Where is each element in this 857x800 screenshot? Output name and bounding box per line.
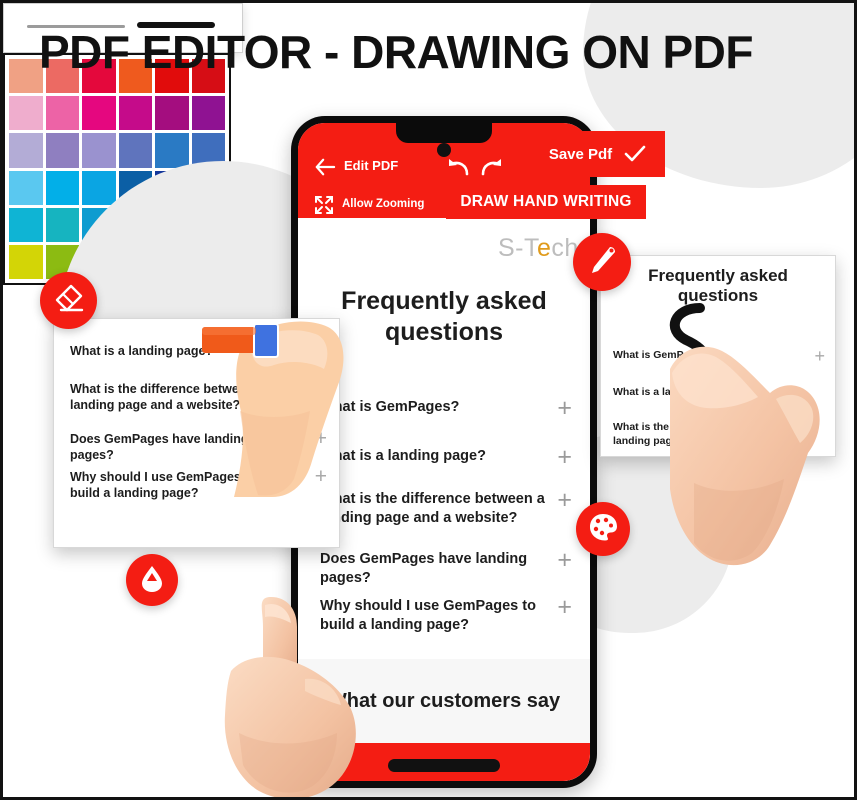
faq-question: Why should I use GemPages to build a lan… xyxy=(70,469,285,502)
thin-stroke-option[interactable] xyxy=(27,25,125,28)
faq-heading: Frequently asked questions xyxy=(298,286,590,347)
list-item[interactable]: What is GemPages? + xyxy=(613,349,825,363)
faq-expand-icon[interactable]: + xyxy=(315,381,327,398)
promo-screenshot: PDF EDITOR - DRAWING ON PDF Edit PDF xyxy=(0,0,857,800)
watermark-accent-letter: e xyxy=(537,234,551,262)
faq-question: Why should I use GemPages to build a lan… xyxy=(320,597,547,634)
list-item[interactable]: What is a landing page? + xyxy=(70,343,327,360)
front-camera xyxy=(437,143,451,157)
thick-stroke-option[interactable] xyxy=(137,22,215,28)
faq-question: What is GemPages? xyxy=(613,349,714,363)
color-swatch[interactable] xyxy=(119,133,153,167)
eraser-icon xyxy=(52,281,86,320)
watermark-prefix: S-T xyxy=(498,234,537,262)
back-arrow-icon[interactable] xyxy=(314,157,336,177)
faq-question: What is the difference between a landing… xyxy=(70,381,285,414)
color-swatch[interactable] xyxy=(46,208,80,242)
faq-question: Does GemPages have landing pages? xyxy=(70,431,285,464)
faq-expand-icon[interactable]: + xyxy=(557,447,572,467)
color-swatch[interactable] xyxy=(9,245,43,279)
faq-item[interactable]: What is a landing page? + xyxy=(320,447,572,467)
draw-hand-writing-label: DRAW HAND WRITING xyxy=(460,193,631,211)
undo-icon[interactable] xyxy=(446,156,470,178)
faq-question: What is the difference between a landing… xyxy=(613,421,783,449)
pen-icon xyxy=(585,243,619,282)
color-swatch[interactable] xyxy=(9,59,43,93)
faq-heading: Frequently asked questions xyxy=(601,266,835,307)
color-swatch[interactable] xyxy=(192,96,226,130)
home-indicator xyxy=(388,759,500,772)
check-icon xyxy=(624,145,646,163)
faq-expand-icon[interactable]: + xyxy=(557,398,572,418)
fullscreen-expand-icon[interactable] xyxy=(314,195,334,215)
page-title: PDF EDITOR - DRAWING ON PDF xyxy=(39,27,799,78)
color-swatch[interactable] xyxy=(82,133,116,167)
faq-expand-icon[interactable]: + xyxy=(315,343,327,360)
faq-question: What is the difference between a landing… xyxy=(320,490,547,527)
eraser-tool-badge[interactable] xyxy=(40,272,97,329)
handwriting-preview-card: Frequently asked questions What is GemPa… xyxy=(600,255,836,457)
phone-notch xyxy=(396,123,492,143)
faq-expand-icon[interactable]: + xyxy=(814,349,825,363)
faq-expand-icon[interactable]: + xyxy=(315,469,327,486)
save-pdf-label: Save Pdf xyxy=(549,146,612,163)
list-item[interactable]: What is the difference between a landing… xyxy=(70,381,327,414)
draw-hand-writing-button[interactable]: DRAW HAND WRITING xyxy=(446,185,646,219)
phone-screen: Edit PDF xyxy=(298,123,590,781)
faq-item[interactable]: What is GemPages? + xyxy=(320,398,572,418)
pdf-document-area[interactable]: S-Tech Frequently asked questions What i… xyxy=(298,218,590,781)
faq-question: What is a landing page? xyxy=(70,343,213,359)
faq-item[interactable]: Does GemPages have landing pages? + xyxy=(320,550,572,587)
testimonial-section: What our customers say xyxy=(298,659,590,743)
faq-question: Does GemPages have landing pages? xyxy=(320,550,547,587)
opacity-tool-badge[interactable] xyxy=(126,554,178,606)
color-swatch[interactable] xyxy=(119,96,153,130)
faq-expand-icon[interactable]: + xyxy=(315,431,327,448)
faq-item[interactable]: What is the difference between a landing… xyxy=(320,490,572,527)
color-swatch[interactable] xyxy=(9,133,43,167)
redo-icon[interactable] xyxy=(480,156,504,178)
color-swatch[interactable] xyxy=(9,171,43,205)
faq-expand-icon[interactable]: + xyxy=(557,597,572,617)
screen-title: Edit PDF xyxy=(344,158,398,173)
color-swatch[interactable] xyxy=(155,96,189,130)
color-swatch[interactable] xyxy=(9,96,43,130)
droplet-icon xyxy=(137,563,167,598)
watermark: S-Tech xyxy=(498,234,579,263)
color-swatch[interactable] xyxy=(46,133,80,167)
list-item[interactable]: Does GemPages have landing pages? + xyxy=(70,431,327,464)
color-swatch[interactable] xyxy=(46,171,80,205)
eraser-preview-card: What is a landing page? + What is the di… xyxy=(53,318,340,548)
faq-item[interactable]: Why should I use GemPages to build a lan… xyxy=(320,597,572,634)
testimonial-heading: What our customers say xyxy=(328,690,560,713)
color-swatch[interactable] xyxy=(46,96,80,130)
faq-expand-icon[interactable]: + xyxy=(557,550,572,570)
faq-question: What is GemPages? xyxy=(320,398,459,417)
pen-tool-badge[interactable] xyxy=(573,233,631,291)
faq-question: What is a landing page? xyxy=(320,447,486,466)
color-palette-tool-badge[interactable] xyxy=(576,502,630,556)
save-pdf-button[interactable]: Save Pdf xyxy=(530,131,665,177)
list-item[interactable]: What is a landing page? xyxy=(613,386,825,400)
color-swatch[interactable] xyxy=(155,133,189,167)
color-swatch[interactable] xyxy=(82,171,116,205)
palette-icon xyxy=(586,510,620,549)
faq-question: What is a landing page? xyxy=(613,386,733,400)
color-swatch[interactable] xyxy=(9,208,43,242)
list-item[interactable]: Why should I use GemPages to build a lan… xyxy=(70,469,327,502)
faq-expand-icon[interactable]: + xyxy=(557,490,572,510)
color-swatch[interactable] xyxy=(82,96,116,130)
allow-zooming-label[interactable]: Allow Zooming xyxy=(342,198,424,210)
list-item[interactable]: What is the difference between a landing… xyxy=(613,421,825,449)
